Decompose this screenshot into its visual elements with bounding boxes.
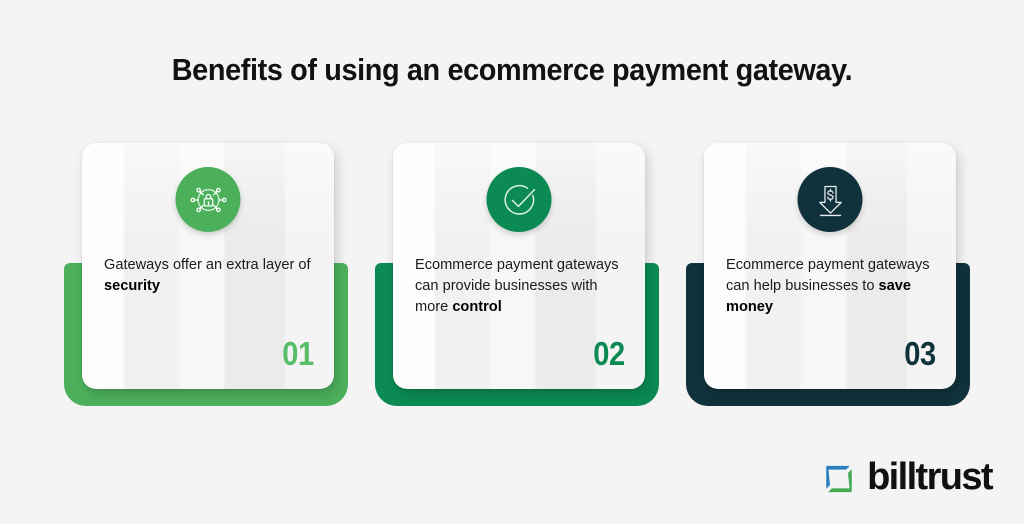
card-2-text: Ecommerce payment gateways can provide b… <box>415 255 627 318</box>
benefit-card-2[interactable]: Ecommerce payment gateways can provide b… <box>375 139 660 411</box>
billtrust-logo: billtrust <box>821 460 992 498</box>
benefit-cards-row: Gateways offer an extra layer of securit… <box>0 139 1024 411</box>
card-1-number: 01 <box>283 335 314 373</box>
card-2-number: 02 <box>594 335 625 373</box>
card-3-text: Ecommerce payment gateways can help busi… <box>726 255 938 318</box>
billtrust-wordmark: billtrust <box>867 458 992 496</box>
card-1-text-bold: security <box>104 278 160 294</box>
benefit-card-1[interactable]: Gateways offer an extra layer of securit… <box>64 139 349 411</box>
page-title: Benefits of using an ecommerce payment g… <box>36 52 988 88</box>
benefit-card-3[interactable]: Ecommerce payment gateways can help busi… <box>686 139 971 411</box>
card-2-text-bold: control <box>452 299 501 315</box>
billtrust-mark-icon <box>821 461 857 497</box>
card-2-surface: Ecommerce payment gateways can provide b… <box>393 143 645 389</box>
network-lock-icon <box>176 167 241 232</box>
card-1-text: Gateways offer an extra layer of securit… <box>104 255 316 297</box>
card-3-surface: Ecommerce payment gateways can help busi… <box>704 143 956 389</box>
card-1-text-lead: Gateways offer an extra layer of <box>104 257 311 273</box>
dollar-down-arrow-icon <box>798 167 863 232</box>
card-1-surface: Gateways offer an extra layer of securit… <box>82 143 334 389</box>
infographic-page: Benefits of using an ecommerce payment g… <box>0 0 1024 524</box>
card-3-number: 03 <box>905 335 936 373</box>
check-circle-icon <box>487 167 552 232</box>
card-2-text-lead: Ecommerce payment gateways can provide b… <box>415 257 619 315</box>
